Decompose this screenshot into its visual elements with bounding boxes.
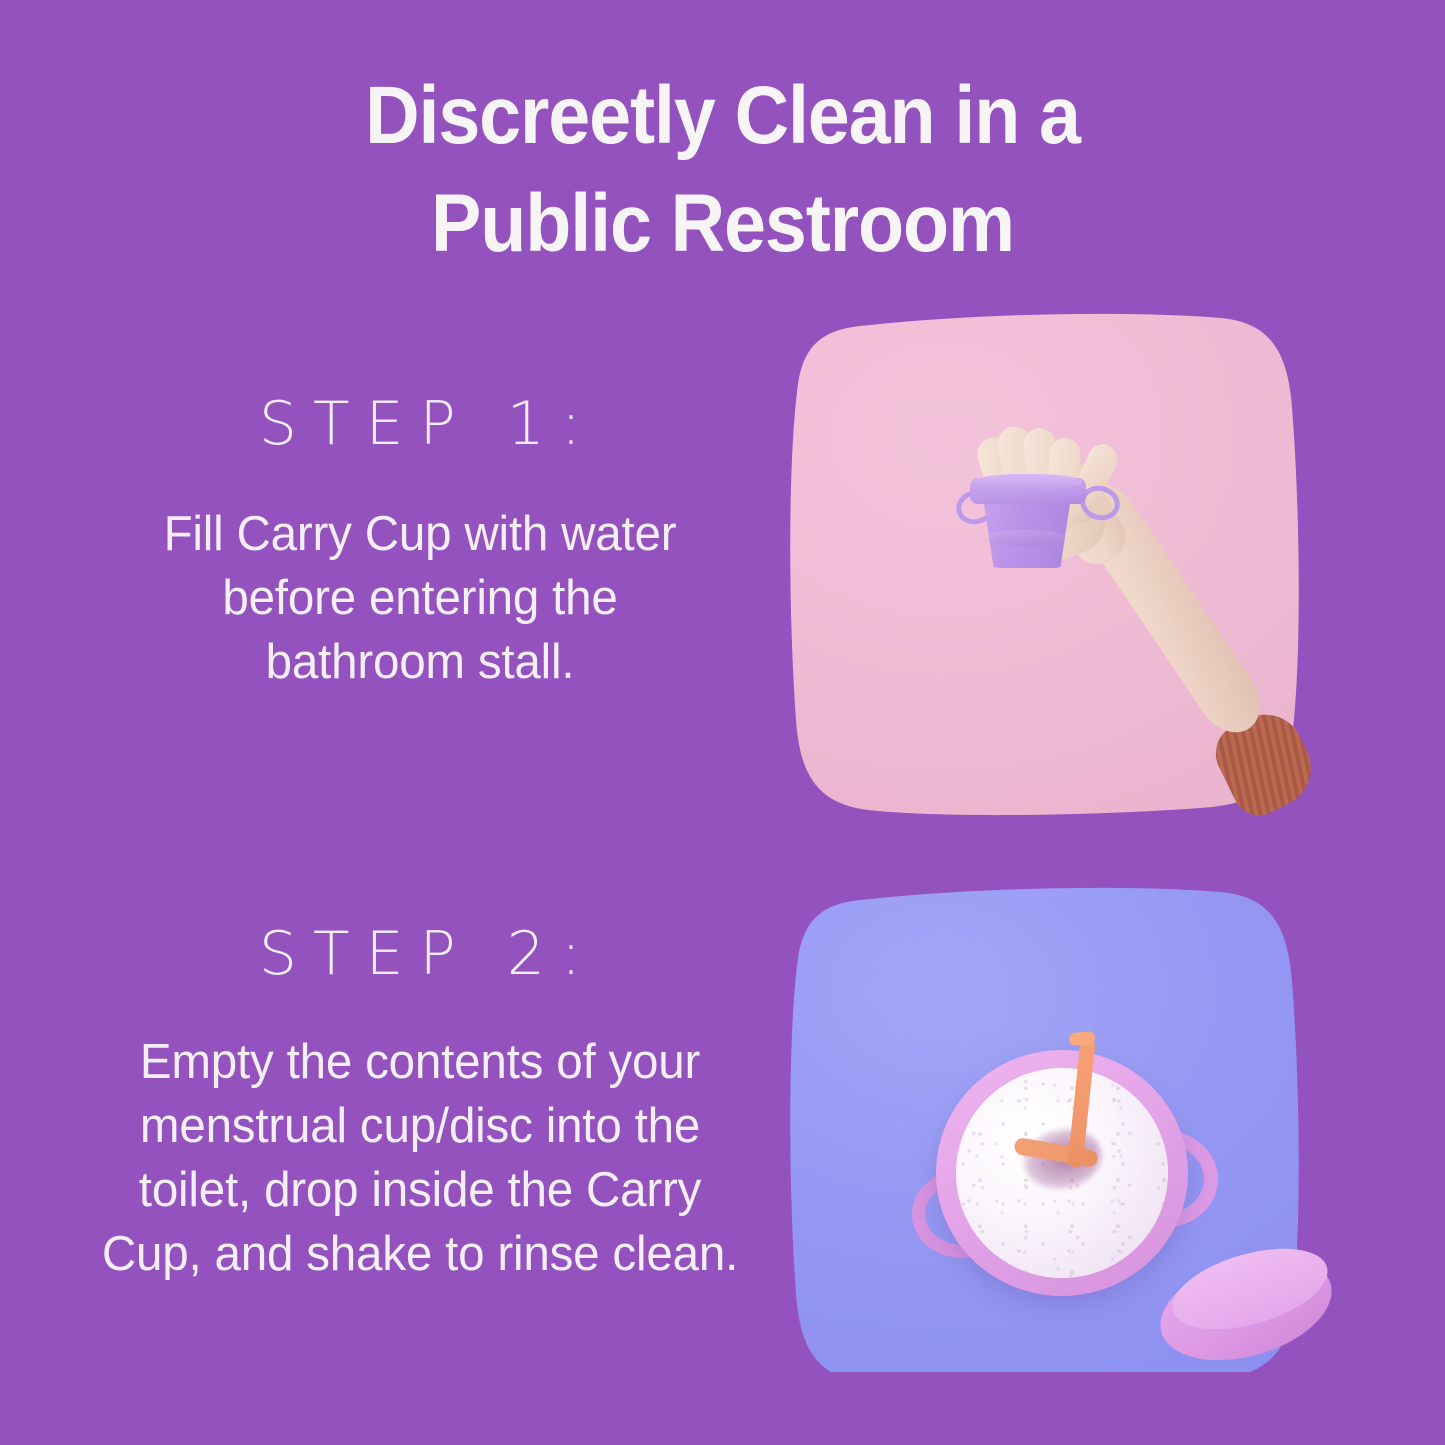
step-2-label: STEP 2: — [60, 918, 780, 990]
step-2-photo-mask — [790, 882, 1335, 1372]
periwinkle-backdrop — [790, 882, 1335, 1372]
step-1-photo — [790, 308, 1305, 820]
step-1-photo-mask — [790, 308, 1305, 820]
steps-column: STEP 1: Fill Carry Cup with water before… — [60, 0, 780, 1445]
step-2-block: STEP 2: Empty the contents of your menst… — [60, 918, 780, 1286]
step-2-body: Empty the contents of your menstrual cup… — [100, 1030, 740, 1286]
step-1-label: STEP 1: — [60, 388, 780, 460]
infographic-root: Discreetly Clean in a Public Restroom ST… — [0, 0, 1445, 1445]
step-1-body: Fill Carry Cup with water before enterin… — [119, 502, 720, 694]
pink-backdrop — [790, 308, 1305, 820]
step-1-block: STEP 1: Fill Carry Cup with water before… — [60, 388, 780, 694]
step-2-photo — [790, 882, 1335, 1372]
